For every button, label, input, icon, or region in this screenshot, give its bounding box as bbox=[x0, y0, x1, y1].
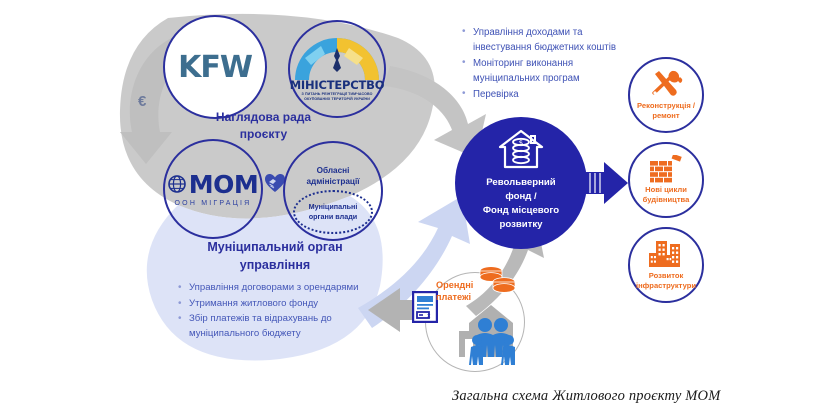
oblast-title: Обласні адміністрації bbox=[306, 166, 359, 187]
outcome-label-new-construction: Нові цикли будівництва bbox=[629, 185, 703, 205]
municipal-authorities-line1: Муніципальні bbox=[309, 202, 358, 211]
municipal-body-title-line2: управління bbox=[170, 256, 380, 274]
municipal-body-bullet-list: Управління договорами з орендарями Утрим… bbox=[176, 281, 399, 342]
oblast-title-line1: Обласні bbox=[306, 166, 359, 176]
supervisory-board-label-line1: Наглядова рада bbox=[186, 109, 341, 126]
ministry-name: МІНІСТЕРСТВО bbox=[290, 80, 385, 92]
outcome-line1: Нові цикли bbox=[629, 185, 703, 195]
partner-circle-kfw[interactable]: KFW bbox=[163, 15, 267, 119]
outcome-line1: Реконструкція / bbox=[629, 101, 703, 111]
fund-line1: Револьверний bbox=[483, 176, 559, 190]
wrench-screwdriver-icon bbox=[649, 69, 683, 99]
list-item: Перевірка bbox=[473, 87, 633, 102]
background-arrows bbox=[0, 0, 815, 417]
outcome-circle-infrastructure[interactable]: Розвиток інфраструктури bbox=[628, 227, 704, 303]
municipal-body-title-line1: Муніципальний орган bbox=[170, 238, 380, 256]
partner-circle-iom[interactable]: МОМ ООН МІГРАЦІЯ bbox=[163, 139, 263, 239]
list-item: Збір платежів та відрахувань до муніципа… bbox=[189, 312, 399, 341]
city-buildings-icon bbox=[648, 239, 684, 269]
outcome-circle-new-construction[interactable]: Нові цикли будівництва bbox=[628, 142, 704, 218]
outcome-label-reconstruction: Реконструкція / ремонт bbox=[629, 101, 703, 121]
partner-circle-ministry[interactable]: МІНІСТЕРСТВО З ПИТАНЬ РЕІНТЕГРАЦІЇ ТИМЧА… bbox=[288, 20, 386, 118]
fund-line4: розвитку bbox=[483, 218, 559, 232]
brick-wall-icon bbox=[648, 155, 684, 183]
ministry-arc-icon bbox=[291, 38, 383, 80]
outcome-label-infrastructure: Розвиток інфраструктури bbox=[629, 271, 703, 291]
ukraine-ministry-logo: МІНІСТЕРСТВО З ПИТАНЬ РЕІНТЕГРАЦІЇ ТИМЧА… bbox=[291, 37, 383, 101]
revolving-fund-circle[interactable]: $ Револьверний фонд / Фонд місцевого роз… bbox=[455, 117, 587, 249]
rental-line1: Орендні bbox=[436, 280, 494, 292]
kfw-logo: KFW bbox=[178, 50, 252, 85]
family-house-icon bbox=[437, 295, 523, 372]
diagram-caption: Загальна схема Житлового проєкту МОМ bbox=[452, 388, 721, 405]
euro-symbol: € bbox=[138, 93, 146, 110]
municipal-authorities-line2: органи влади bbox=[309, 212, 358, 221]
fund-to-outcomes-arrow bbox=[586, 162, 628, 204]
dotted-ellipse: Муніципальні органи влади bbox=[293, 190, 373, 234]
oblast-title-line2: адміністрації bbox=[306, 177, 359, 187]
diagram-canvas: € KFW МІНІСТЕРСТВО З ПИТАНЬ РЕІНТЕГРАЦІЇ… bbox=[0, 0, 815, 417]
outcome-line2: інфраструктури bbox=[629, 281, 703, 291]
oversight-tasks-bullet-list: Управління доходами та інвестування бюдж… bbox=[460, 25, 633, 103]
list-item: Управління доходами та інвестування бюдж… bbox=[473, 25, 633, 55]
municipal-authorities-label: Муніципальні органи влади bbox=[309, 202, 358, 221]
partner-circle-oblast[interactable]: Обласні адміністрації Муніципальні орган… bbox=[283, 141, 383, 241]
rental-line2: платежі bbox=[436, 292, 494, 304]
svg-text:x: x bbox=[427, 312, 431, 319]
outcome-line1: Розвиток bbox=[629, 271, 703, 281]
fund-line2: фонд / bbox=[483, 190, 559, 204]
list-item: Моніторинг виконання муніципальних прогр… bbox=[473, 56, 633, 86]
rental-payments-label: Орендні платежі bbox=[436, 280, 494, 304]
list-item: Управління договорами з орендарями bbox=[189, 281, 399, 296]
iom-name: МОМ bbox=[189, 172, 259, 197]
house-with-coins-icon: $ bbox=[497, 129, 545, 174]
invoice-icon: x bbox=[412, 291, 438, 328]
ministry-subtitle: З ПИТАНЬ РЕІНТЕГРАЦІЇ ТИМЧАСОВО ОКУПОВАН… bbox=[293, 92, 381, 101]
fund-line3: Фонд місцевого bbox=[483, 204, 559, 218]
iom-subtitle: ООН МІГРАЦІЯ bbox=[175, 200, 252, 207]
svg-text:$: $ bbox=[519, 139, 523, 147]
outcome-line2: будівництва bbox=[629, 195, 703, 205]
outcome-circle-reconstruction[interactable]: Реконструкція / ремонт bbox=[628, 57, 704, 133]
revolving-fund-label: Револьверний фонд / Фонд місцевого розви… bbox=[483, 176, 559, 232]
list-item: Утримання житлового фонду bbox=[189, 297, 399, 312]
globe-icon bbox=[168, 175, 186, 193]
municipal-body-title: Муніципальний орган управління bbox=[170, 238, 380, 274]
outcome-line2: ремонт bbox=[629, 111, 703, 121]
